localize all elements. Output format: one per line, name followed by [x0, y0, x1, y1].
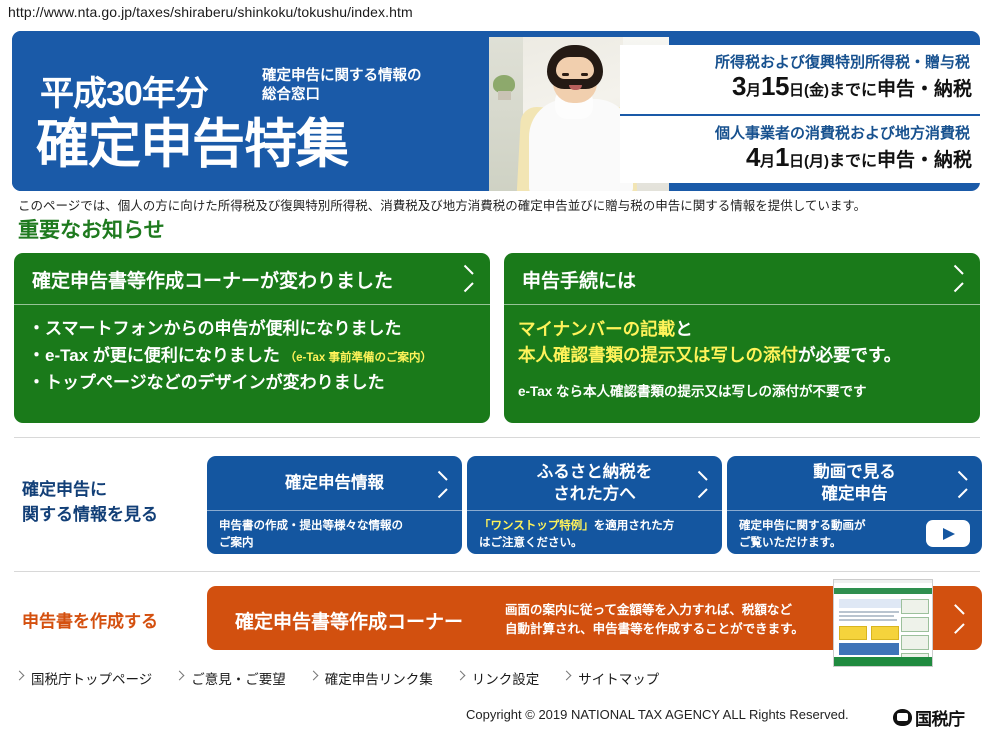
create-desc-line2: 自動計算され、申告書等を作成することができます。 — [505, 622, 804, 636]
notice-body: マイナンバーの記載と 本人確認書類の提示又は写しの添付が必要です。 e-Tax … — [504, 305, 980, 400]
info-label-line1: 確定申告に — [22, 480, 107, 499]
thumb-blue-block — [839, 643, 899, 655]
info-card-title-line1: 動画で見る — [813, 463, 896, 481]
deadline-panel: 所得税および復興特別所得税・贈与税 3月15日(金)までに申告・納税 個人事業者… — [620, 45, 980, 183]
info-card-header: ふるさと納税を された方へ — [467, 456, 722, 511]
footer-link-nta-top[interactable]: 国税庁トップページ — [14, 668, 152, 688]
page-root: http://www.nta.go.jp/taxes/shiraberu/shi… — [0, 0, 992, 745]
notice-highlight-text: 本人確認書類の提示又は写しの添付 — [518, 345, 798, 365]
deadline-action: 申告・納税 — [877, 150, 972, 171]
play-icon[interactable] — [926, 520, 970, 547]
thumb-line — [839, 615, 894, 617]
nta-logo: 国税庁 — [893, 705, 965, 730]
photo-eye-left — [562, 73, 569, 76]
notice-bullet-with-note: ・e-Tax が更に便利になりました （e-Tax 事前準備のご案内） — [28, 343, 476, 370]
notice-panel-filing-procedure[interactable]: 申告手続には マイナンバーの記載と 本人確認書類の提示又は写しの添付が必要です。… — [504, 253, 980, 423]
info-card-title: 動画で見る 確定申告 — [727, 456, 982, 511]
footer-link-sitemap[interactable]: サイトマップ — [561, 668, 659, 688]
thumb-highlight-block — [871, 626, 899, 640]
info-card-desc-line2: ご案内 — [219, 537, 254, 549]
deadline-caption: 個人事業者の消費税および地方消費税 — [715, 122, 970, 143]
deadline-day-unit: 日 — [789, 82, 804, 99]
info-label-line2: 関する情報を見る — [22, 505, 158, 524]
chevron-right-icon — [951, 268, 962, 288]
play-triangle — [943, 528, 955, 540]
divider-above-info-cards — [14, 437, 980, 438]
info-card-description: 「ワンストップ特例」を適用された方 はご注意ください。 — [467, 511, 722, 551]
footer-link-link-policy[interactable]: リンク設定 — [455, 668, 540, 688]
url-bar[interactable]: http://www.nta.go.jp/taxes/shiraberu/shi… — [8, 4, 413, 20]
notice-heading-label: 申告手続には — [522, 266, 636, 293]
hero-year-label: 平成30年分 — [40, 77, 208, 111]
deadline-month: 4 — [746, 142, 760, 172]
deadline-weekday: (月) — [804, 153, 829, 170]
chevron-right-icon — [435, 474, 446, 494]
hero-subtitle-line2: 総合窓口 — [262, 87, 320, 103]
deadline-row-consumption-tax: 個人事業者の消費税および地方消費税 4月1日(月)までに申告・納税 — [620, 114, 980, 183]
info-card-desc-highlight: 「ワンストップ特例」 — [479, 520, 594, 532]
info-card-title: ふるさと納税を された方へ — [467, 456, 722, 511]
footer-links: 国税庁トップページ ご意見・ご要望 確定申告リンク集 リンク設定 サイトマップ — [14, 668, 659, 688]
info-card-title-line2: された方へ — [553, 485, 636, 503]
create-bar-description: 画面の案内に従って金額等を入力すれば、税額など 自動計算され、申告書等を作成する… — [505, 601, 804, 639]
info-card-header: 動画で見る 確定申告 — [727, 456, 982, 511]
photo-eye-right — [581, 73, 588, 76]
deadline-day-unit: 日 — [789, 153, 804, 170]
notice-panel-creation-corner[interactable]: 確定申告書等作成コーナーが変わりました ・スマートフォンからの申告が便利になりま… — [14, 253, 490, 423]
deadline-day: 1 — [775, 142, 789, 172]
create-bar-title: 確定申告書等作成コーナー — [235, 607, 463, 634]
deadline-month-unit: 月 — [760, 153, 775, 170]
thumb-highlight-block — [839, 626, 867, 640]
notice-bullet-text: ・e-Tax が更に便利になりました — [28, 346, 280, 365]
deadline-day: 15 — [761, 71, 789, 101]
hero-subtitle: 確定申告に関する情報の 総合窓口 — [262, 67, 482, 104]
info-card-video-guide[interactable]: 動画で見る 確定申告 確定申告に関する動画が ご覧いただけます。 — [727, 456, 982, 554]
notice-bullet: ・スマートフォンからの申告が便利になりました — [28, 316, 476, 343]
info-card-title: 確定申告情報 — [207, 456, 462, 511]
notice-plain-text: と — [675, 319, 693, 339]
notice-bullet: ・トップページなどのデザインが変わりました — [28, 370, 476, 397]
chevron-right-icon — [461, 268, 472, 288]
notice-heading-label: 確定申告書等作成コーナーが変わりました — [32, 266, 393, 293]
deadline-date: 3月15日(金)までに申告・納税 — [732, 71, 972, 102]
nta-emblem-icon — [893, 709, 912, 726]
info-card-desc-line2: はご注意ください。 — [479, 537, 583, 549]
deadline-action: 申告・納税 — [877, 79, 972, 100]
notice-line-identity-docs: 本人確認書類の提示又は写しの添付が必要です。 — [518, 342, 966, 368]
chevron-right-icon — [951, 608, 962, 628]
thumb-sidebar-item — [901, 617, 929, 632]
hero-banner[interactable]: 平成30年分 確定申告に関する情報の 総合窓口 確定申告特集 — [12, 31, 980, 191]
notice-highlight-text: マイナンバーの記載 — [518, 319, 675, 339]
intro-text: このページでは、個人の方に向けた所得税及び復興特別所得税、消費税及び地方消費税の… — [18, 195, 866, 214]
info-card-title-line1: ふるさと納税を — [537, 463, 653, 481]
thumb-line — [839, 619, 897, 621]
deadline-suffix: までに — [829, 153, 877, 170]
thumb-footer-bar — [834, 657, 932, 666]
deadline-suffix: までに — [829, 82, 877, 99]
thumb-line — [839, 611, 899, 613]
hero-title: 確定申告特集 — [36, 118, 348, 171]
thumb-sidebar-item — [901, 635, 929, 650]
info-card-desc-line1: 確定申告に関する動画が — [739, 520, 866, 532]
create-desc-line1: 画面の案内に従って金額等を入力すれば、税額など — [505, 603, 792, 617]
deadline-weekday: (金) — [804, 82, 829, 99]
hero-subtitle-line1: 確定申告に関する情報の — [262, 68, 422, 84]
notice-plain-text: が必要です。 — [798, 345, 901, 365]
nta-logo-text: 国税庁 — [915, 705, 965, 730]
info-card-desc-rest: を適用された方 — [594, 520, 675, 532]
info-card-desc-line2: ご覧いただけます。 — [739, 537, 841, 549]
thumb-block — [839, 599, 901, 608]
chevron-right-icon — [695, 474, 706, 494]
info-card-description: 申告書の作成・提出等様々な情報の ご案内 — [207, 511, 462, 551]
notice-line-mynumber: マイナンバーの記載と — [518, 316, 966, 342]
site-screenshot-thumbnail — [833, 579, 933, 667]
notice-header[interactable]: 確定申告書等作成コーナーが変わりました — [14, 253, 490, 305]
deadline-caption: 所得税および復興特別所得税・贈与税 — [715, 51, 970, 72]
photo-hair — [547, 45, 603, 89]
info-section-label: 確定申告に 関する情報を見る — [22, 478, 158, 527]
info-card-title-line2: 確定申告 — [822, 485, 888, 503]
deadline-month-unit: 月 — [746, 82, 761, 99]
notice-etax-note: e-Tax なら本人確認書類の提示又は写しの添付が不要です — [518, 380, 966, 400]
info-card-header: 確定申告情報 — [207, 456, 462, 511]
notice-header[interactable]: 申告手続には — [504, 253, 980, 305]
info-card-tax-return-information[interactable]: 確定申告情報 申告書の作成・提出等様々な情報の ご案内 — [207, 456, 462, 554]
footer-link-feedback[interactable]: ご意見・ご要望 — [174, 668, 286, 688]
deadline-month: 3 — [732, 71, 746, 101]
section-heading-important-notice: 重要なお知らせ — [18, 214, 165, 244]
chevron-right-icon — [955, 474, 966, 494]
footer-link-related-links[interactable]: 確定申告リンク集 — [308, 668, 433, 688]
create-section-label: 申告書を作成する — [22, 607, 158, 632]
deadline-row-income-tax: 所得税および復興特別所得税・贈与税 3月15日(金)までに申告・納税 — [620, 45, 980, 114]
notice-bullet-note: （e-Tax 事前準備のご案内） — [285, 352, 432, 364]
thumb-browser-bar — [834, 580, 932, 583]
thumb-sidebar-item — [901, 599, 929, 614]
info-card-furusato-tax[interactable]: ふるさと納税を された方へ 「ワンストップ特例」を適用された方 はご注意ください… — [467, 456, 722, 554]
photo-pot — [498, 91, 511, 100]
deadline-date: 4月1日(月)までに申告・納税 — [746, 142, 972, 173]
notice-body: ・スマートフォンからの申告が便利になりました ・e-Tax が更に便利になりまし… — [14, 305, 490, 397]
divider-above-create-section — [14, 571, 980, 572]
info-card-desc-line1: 申告書の作成・提出等様々な情報の — [219, 520, 403, 532]
copyright-text: Copyright © 2019 NATIONAL TAX AGENCY ALL… — [466, 707, 849, 722]
thumb-nav-bar — [834, 588, 932, 594]
